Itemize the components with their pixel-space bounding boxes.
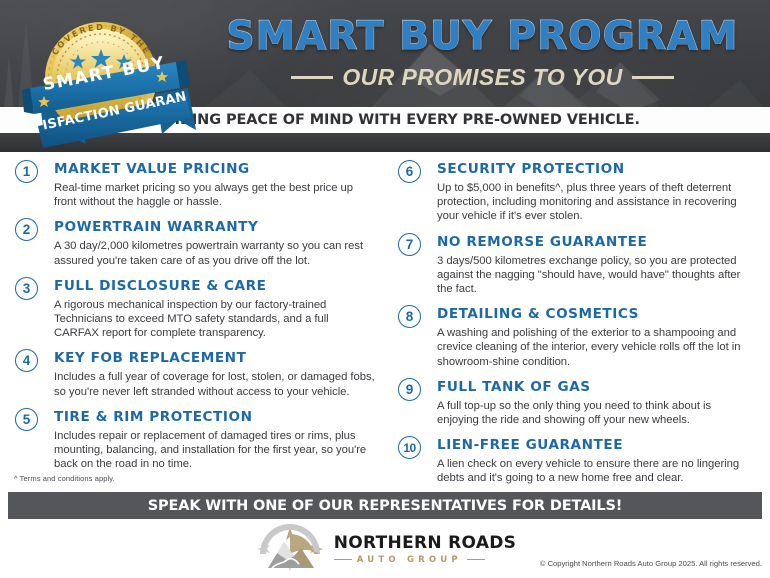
promise-body: A rigorous mechanical inspection by our … [54,298,375,341]
promise-body: Real-time market pricing so you always g… [54,181,375,209]
promise-number-badge: 4 [15,349,38,372]
promise-number-badge: 6 [398,160,421,183]
header-banner: SMART BUY PROGRAM OUR PROMISES TO YOU PR… [0,0,770,152]
promise-body: A lien check on every vehicle to ensure … [437,457,754,485]
promise-body: Up to $5,000 in benefits^, plus three ye… [437,181,754,224]
header-subtitle-row: OUR PROMISES TO YOU [195,64,770,91]
promise-body: Includes repair or replacement of damage… [54,429,375,472]
promise-title: SECURITY PROTECTION [437,161,754,178]
promise-title: POWERTRAIN WARRANTY [54,219,375,236]
page-subtitle: OUR PROMISES TO YOU [342,64,622,91]
mountain-compass-logo-icon [254,524,326,574]
promise-body: Includes a full year of coverage for los… [54,370,375,398]
logo-name: NORTHERN ROADS [334,534,516,553]
logo-text-block: NORTHERN ROADS AUTO GROUP [334,534,516,565]
promises-column-left: 1 MARKET VALUE PRICING Real-time market … [10,161,385,474]
smart-buy-program-page: SMART BUY PROGRAM OUR PROMISES TO YOU PR… [0,0,770,578]
subtitle-rule-right [632,76,674,79]
promise-body: A washing and polishing of the exterior … [437,326,754,369]
promises-content: 1 MARKET VALUE PRICING Real-time market … [0,152,770,474]
promise-body: A 30 day/2,000 kilometres powertrain war… [54,239,375,267]
logo-subtitle-row: AUTO GROUP [334,555,516,565]
promise-body: 3 days/500 kilometres exchange policy, s… [437,254,754,297]
promise-number-badge: 7 [398,233,421,256]
cta-text: SPEAK WITH ONE OF OUR REPRESENTATIVES FO… [148,498,623,514]
header-title-block: SMART BUY PROGRAM OUR PROMISES TO YOU [195,14,770,91]
promise-body: A full top-up so the only thing you need… [437,399,754,427]
promise-title: FULL TANK OF GAS [437,379,754,396]
promise-number-badge: 1 [15,160,38,183]
promise-item: 8 DETAILING & COSMETICS A washing and po… [393,306,754,369]
promise-title: MARKET VALUE PRICING [54,161,375,178]
promise-item: 6 SECURITY PROTECTION Up to $5,000 in be… [393,161,754,224]
promise-item: 2 POWERTRAIN WARRANTY A 30 day/2,000 kil… [10,219,375,267]
promise-number-badge: 3 [15,277,38,300]
tagline-text: PROVIDING PEACE OF MIND WITH EVERY PRE-O… [130,112,640,128]
promise-title: NO REMORSE GUARANTEE [437,234,754,251]
logo-dash-left [334,559,352,561]
cta-bar[interactable]: SPEAK WITH ONE OF OUR REPRESENTATIVES FO… [8,492,762,519]
promise-number-badge: 9 [398,378,421,401]
promise-title: FULL DISCLOSURE & CARE [54,278,375,295]
subtitle-rule-left [291,76,333,79]
promise-item: 1 MARKET VALUE PRICING Real-time market … [10,161,375,209]
page-title: SMART BUY PROGRAM [195,14,770,60]
logo-subtitle: AUTO GROUP [357,555,462,565]
promises-column-right: 6 SECURITY PROTECTION Up to $5,000 in be… [385,161,760,474]
promise-title: TIRE & RIM PROTECTION [54,409,375,426]
promise-title: DETAILING & COSMETICS [437,306,754,323]
copyright-text: © Copyright Northern Roads Auto Group 20… [540,559,762,568]
promise-item: 7 NO REMORSE GUARANTEE 3 days/500 kilome… [393,234,754,297]
promise-item: 9 FULL TANK OF GAS A full top-up so the … [393,379,754,427]
promise-item: 10 LIEN-FREE GUARANTEE A lien check on e… [393,437,754,485]
logo-dash-right [467,559,485,561]
promise-title: KEY FOB REPLACEMENT [54,350,375,367]
promise-title: LIEN-FREE GUARANTEE [437,437,754,454]
promise-number-badge: 2 [15,218,38,241]
satisfaction-guarantee-badge: COVERED BY THE SMART BUY [16,4,206,152]
promise-number-badge: 8 [398,305,421,328]
promise-item: 5 TIRE & RIM PROTECTION Includes repair … [10,409,375,472]
promise-item: 4 KEY FOB REPLACEMENT Includes a full ye… [10,350,375,398]
promise-number-badge: 10 [398,436,421,459]
terms-footnote: ^ Terms and conditions apply. [14,474,115,483]
promise-number-badge: 5 [15,408,38,431]
promise-item: 3 FULL DISCLOSURE & CARE A rigorous mech… [10,278,375,341]
